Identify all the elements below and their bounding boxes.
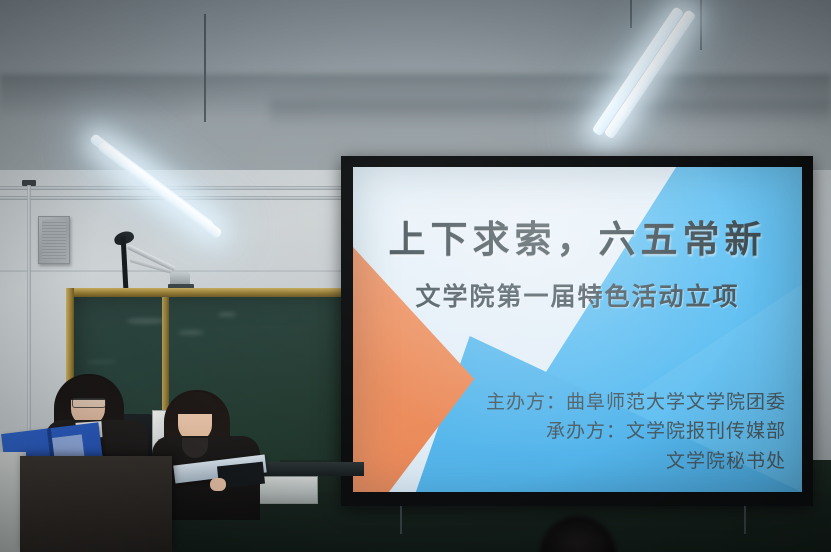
hair-fringe: [173, 392, 217, 414]
wall-speaker: [38, 216, 70, 264]
light-suspension-rod: [204, 14, 206, 122]
hand: [210, 478, 226, 491]
chalk-smudge: [178, 330, 204, 335]
light-suspension-rod-a: [630, 0, 632, 28]
projection-screen: 上下求索，六五常新 文学院第一届特色活动立项 主办方：曲阜师范大学文学院团委 承…: [353, 167, 802, 492]
slide-credits: 主办方：曲阜师范大学文学院团委 承办方：文学院报刊传媒部 文学院秘书处: [486, 388, 786, 476]
chalkboard-frame-top: [66, 288, 347, 297]
speaker-grill-icon: [42, 220, 66, 260]
screen-strap-right: [744, 506, 746, 534]
fluorescent-tube-icon-secondary: [603, 9, 696, 140]
chalk-smudge: [218, 312, 236, 317]
slide-credit-host: 承办方：文学院报刊传媒部: [486, 417, 786, 446]
ceiling-light-left: [96, 14, 326, 174]
photo-scene: 上下求索，六五常新 文学院第一届特色活动立项 主办方：曲阜师范大学文学院团委 承…: [0, 0, 831, 552]
slide-credit-secretariat: 文学院秘书处: [486, 447, 786, 476]
slide-title: 上下求索，六五常新: [353, 209, 802, 263]
chalk-smudge: [126, 318, 166, 324]
light-suspension-rod-b: [700, 0, 702, 50]
ceiling-light-right: [600, 0, 831, 160]
wall-conduit: [27, 185, 31, 460]
fluorescent-tube-icon: [591, 6, 684, 137]
projector-post: [121, 236, 129, 290]
wall-trim-rail-upper: [0, 186, 345, 190]
eyeglasses-icon: [72, 398, 106, 408]
slide-credit-organizer: 主办方：曲阜师范大学文学院团委: [486, 388, 786, 417]
projector-arm-mount: [108, 232, 194, 290]
screen-strap-left: [400, 506, 402, 534]
hair-fringe: [66, 376, 110, 400]
slide-subtitle: 文学院第一届特色活动立项: [353, 277, 802, 313]
presentation-slide: 上下求索，六五常新 文学院第一届特色活动立项 主办方：曲阜师范大学文学院团委 承…: [353, 167, 802, 492]
lectern: [20, 456, 172, 552]
chalk-smudge: [86, 360, 116, 364]
